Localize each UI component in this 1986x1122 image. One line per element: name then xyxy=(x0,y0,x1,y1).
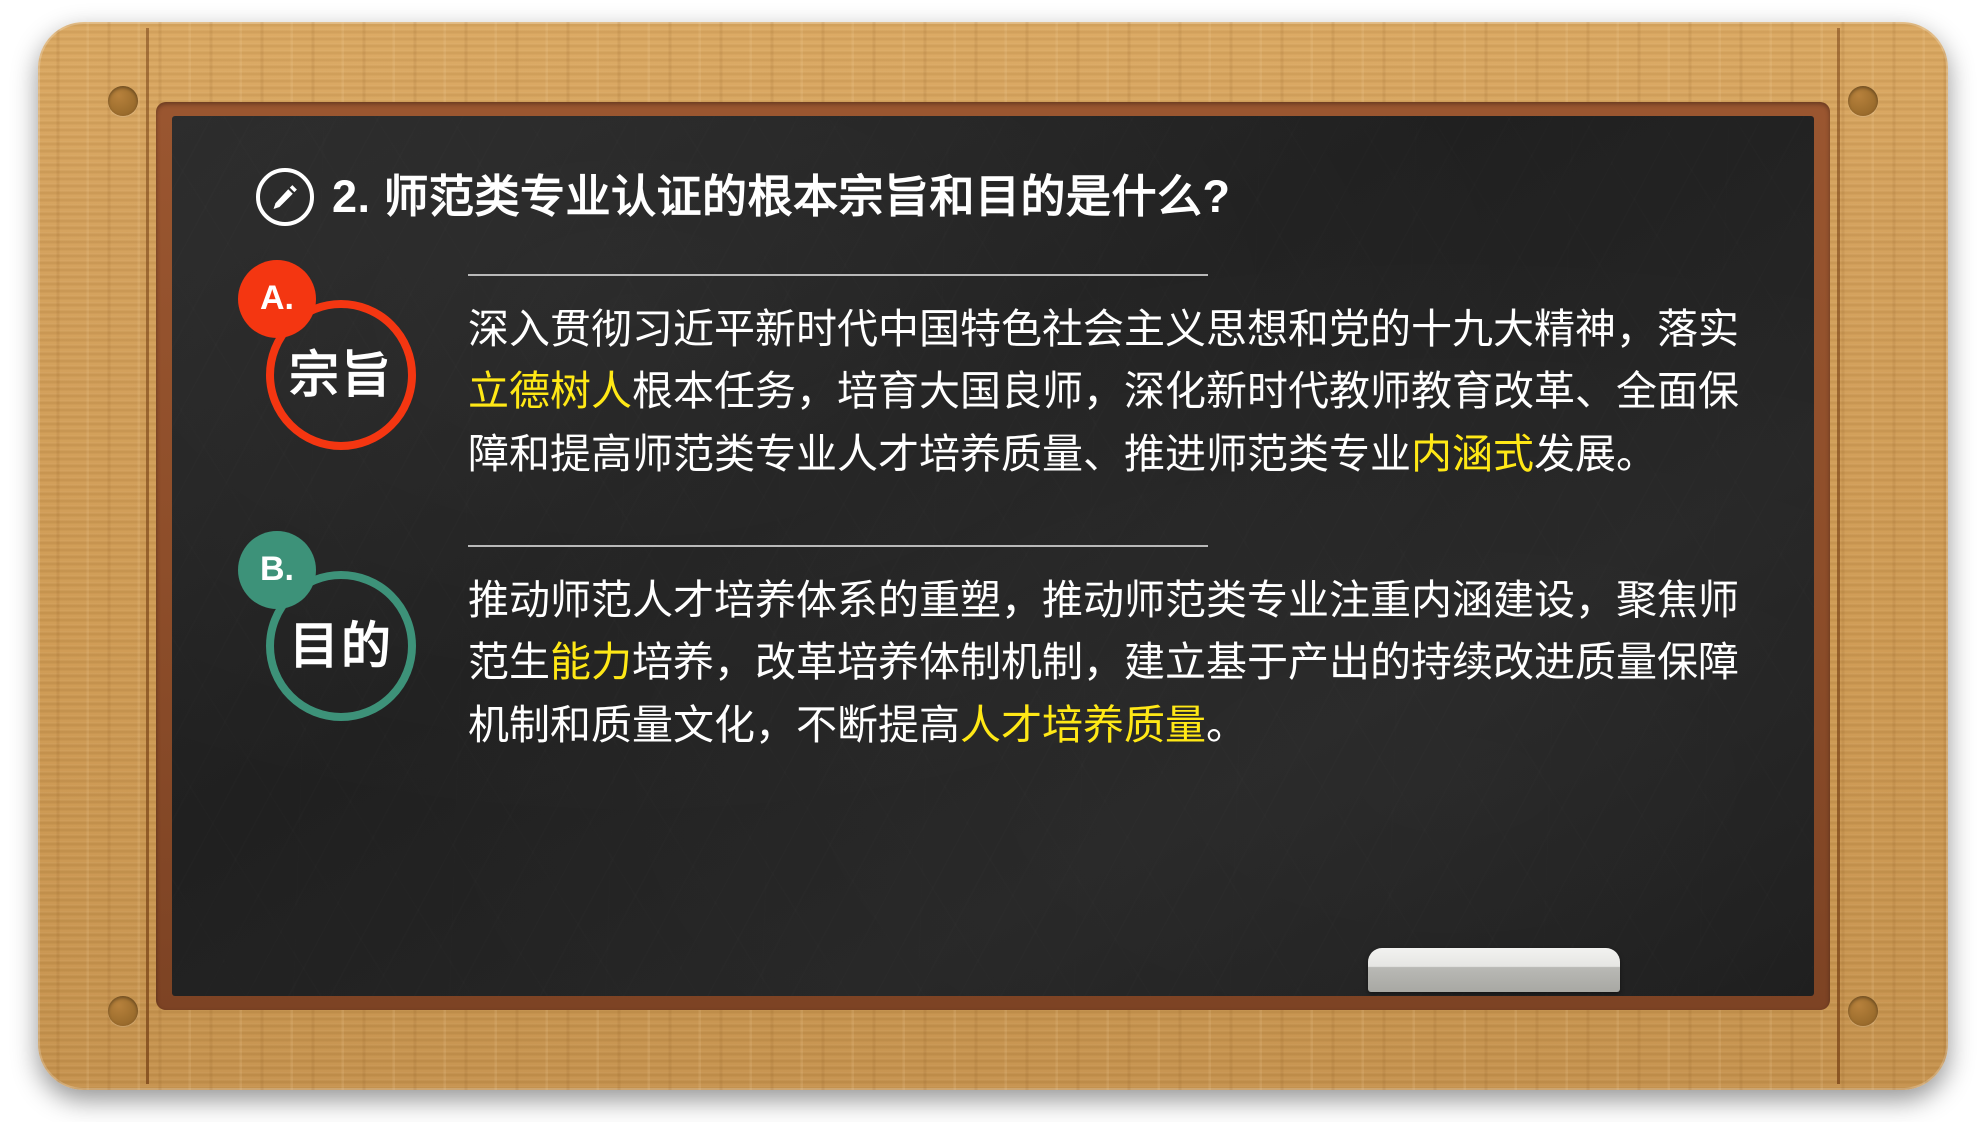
badge-column-a: 宗旨 A. xyxy=(218,260,458,450)
frame-screw-bottom-left xyxy=(108,996,138,1026)
paragraph-run: 。 xyxy=(1206,702,1247,748)
frame-screw-top-left xyxy=(108,86,138,116)
title-row: 2. 师范类专业认证的根本宗旨和目的是什么? xyxy=(256,168,1768,226)
highlighted-term: 人才培养质量 xyxy=(960,702,1206,748)
frame-screw-bottom-right xyxy=(1848,996,1878,1026)
badge-column-b: 目的 B. xyxy=(218,531,458,721)
chalk-eraser[interactable] xyxy=(1368,948,1620,992)
page-title: 2. 师范类专业认证的根本宗旨和目的是什么? xyxy=(332,172,1231,222)
letter-bubble-b: B. xyxy=(238,531,316,609)
frame-screw-top-right xyxy=(1848,86,1878,116)
frame-seam-left xyxy=(146,28,149,1084)
pencil-icon xyxy=(256,168,314,226)
letter-bubble-a: A. xyxy=(238,260,316,338)
section-mudi: 目的 B. 推动师范人才培养体系的重塑，推动师范类专业注重内涵建设，聚焦师范生能… xyxy=(218,531,1768,756)
frame-seam-right xyxy=(1837,28,1840,1084)
section-divider-b xyxy=(468,545,1208,547)
slide-stage: 2. 师范类专业认证的根本宗旨和目的是什么? 宗旨 A. xyxy=(0,0,1986,1122)
section-zongzhi: 宗旨 A. 深入贯彻习近平新时代中国特色社会主义思想和党的十九大精神，落实立德树… xyxy=(218,260,1768,485)
paragraph-column-a: 深入贯彻习近平新时代中国特色社会主义思想和党的十九大精神，落实立德树人根本任务，… xyxy=(458,260,1768,485)
chalkboard-bezel: 2. 师范类专业认证的根本宗旨和目的是什么? 宗旨 A. xyxy=(156,102,1830,1010)
paragraph-b: 推动师范人才培养体系的重塑，推动师范类专业注重内涵建设，聚焦师范生能力培养，改革… xyxy=(468,569,1758,756)
paragraph-column-b: 推动师范人才培养体系的重塑，推动师范类专业注重内涵建设，聚焦师范生能力培养，改革… xyxy=(458,531,1768,756)
ring-label-a: 宗旨 xyxy=(289,350,393,400)
highlighted-term: 能力 xyxy=(550,639,632,685)
chalkboard-wooden-frame: 2. 师范类专业认证的根本宗旨和目的是什么? 宗旨 A. xyxy=(38,22,1948,1090)
letter-label-b: B. xyxy=(260,552,294,586)
letter-label-a: A. xyxy=(260,281,294,315)
paragraph-a: 深入贯彻习近平新时代中国特色社会主义思想和党的十九大精神，落实立德树人根本任务，… xyxy=(468,298,1758,485)
board-content: 2. 师范类专业认证的根本宗旨和目的是什么? 宗旨 A. xyxy=(172,116,1814,996)
paragraph-run: 发展。 xyxy=(1534,431,1657,477)
paragraph-run: 深入贯彻习近平新时代中国特色社会主义思想和党的十九大精神，落实 xyxy=(468,306,1739,352)
chalkboard-surface: 2. 师范类专业认证的根本宗旨和目的是什么? 宗旨 A. xyxy=(172,116,1814,996)
ring-label-b: 目的 xyxy=(289,621,393,671)
highlighted-term: 内涵式 xyxy=(1411,431,1534,477)
highlighted-term: 立德树人 xyxy=(468,368,632,414)
section-divider-a xyxy=(468,274,1208,276)
